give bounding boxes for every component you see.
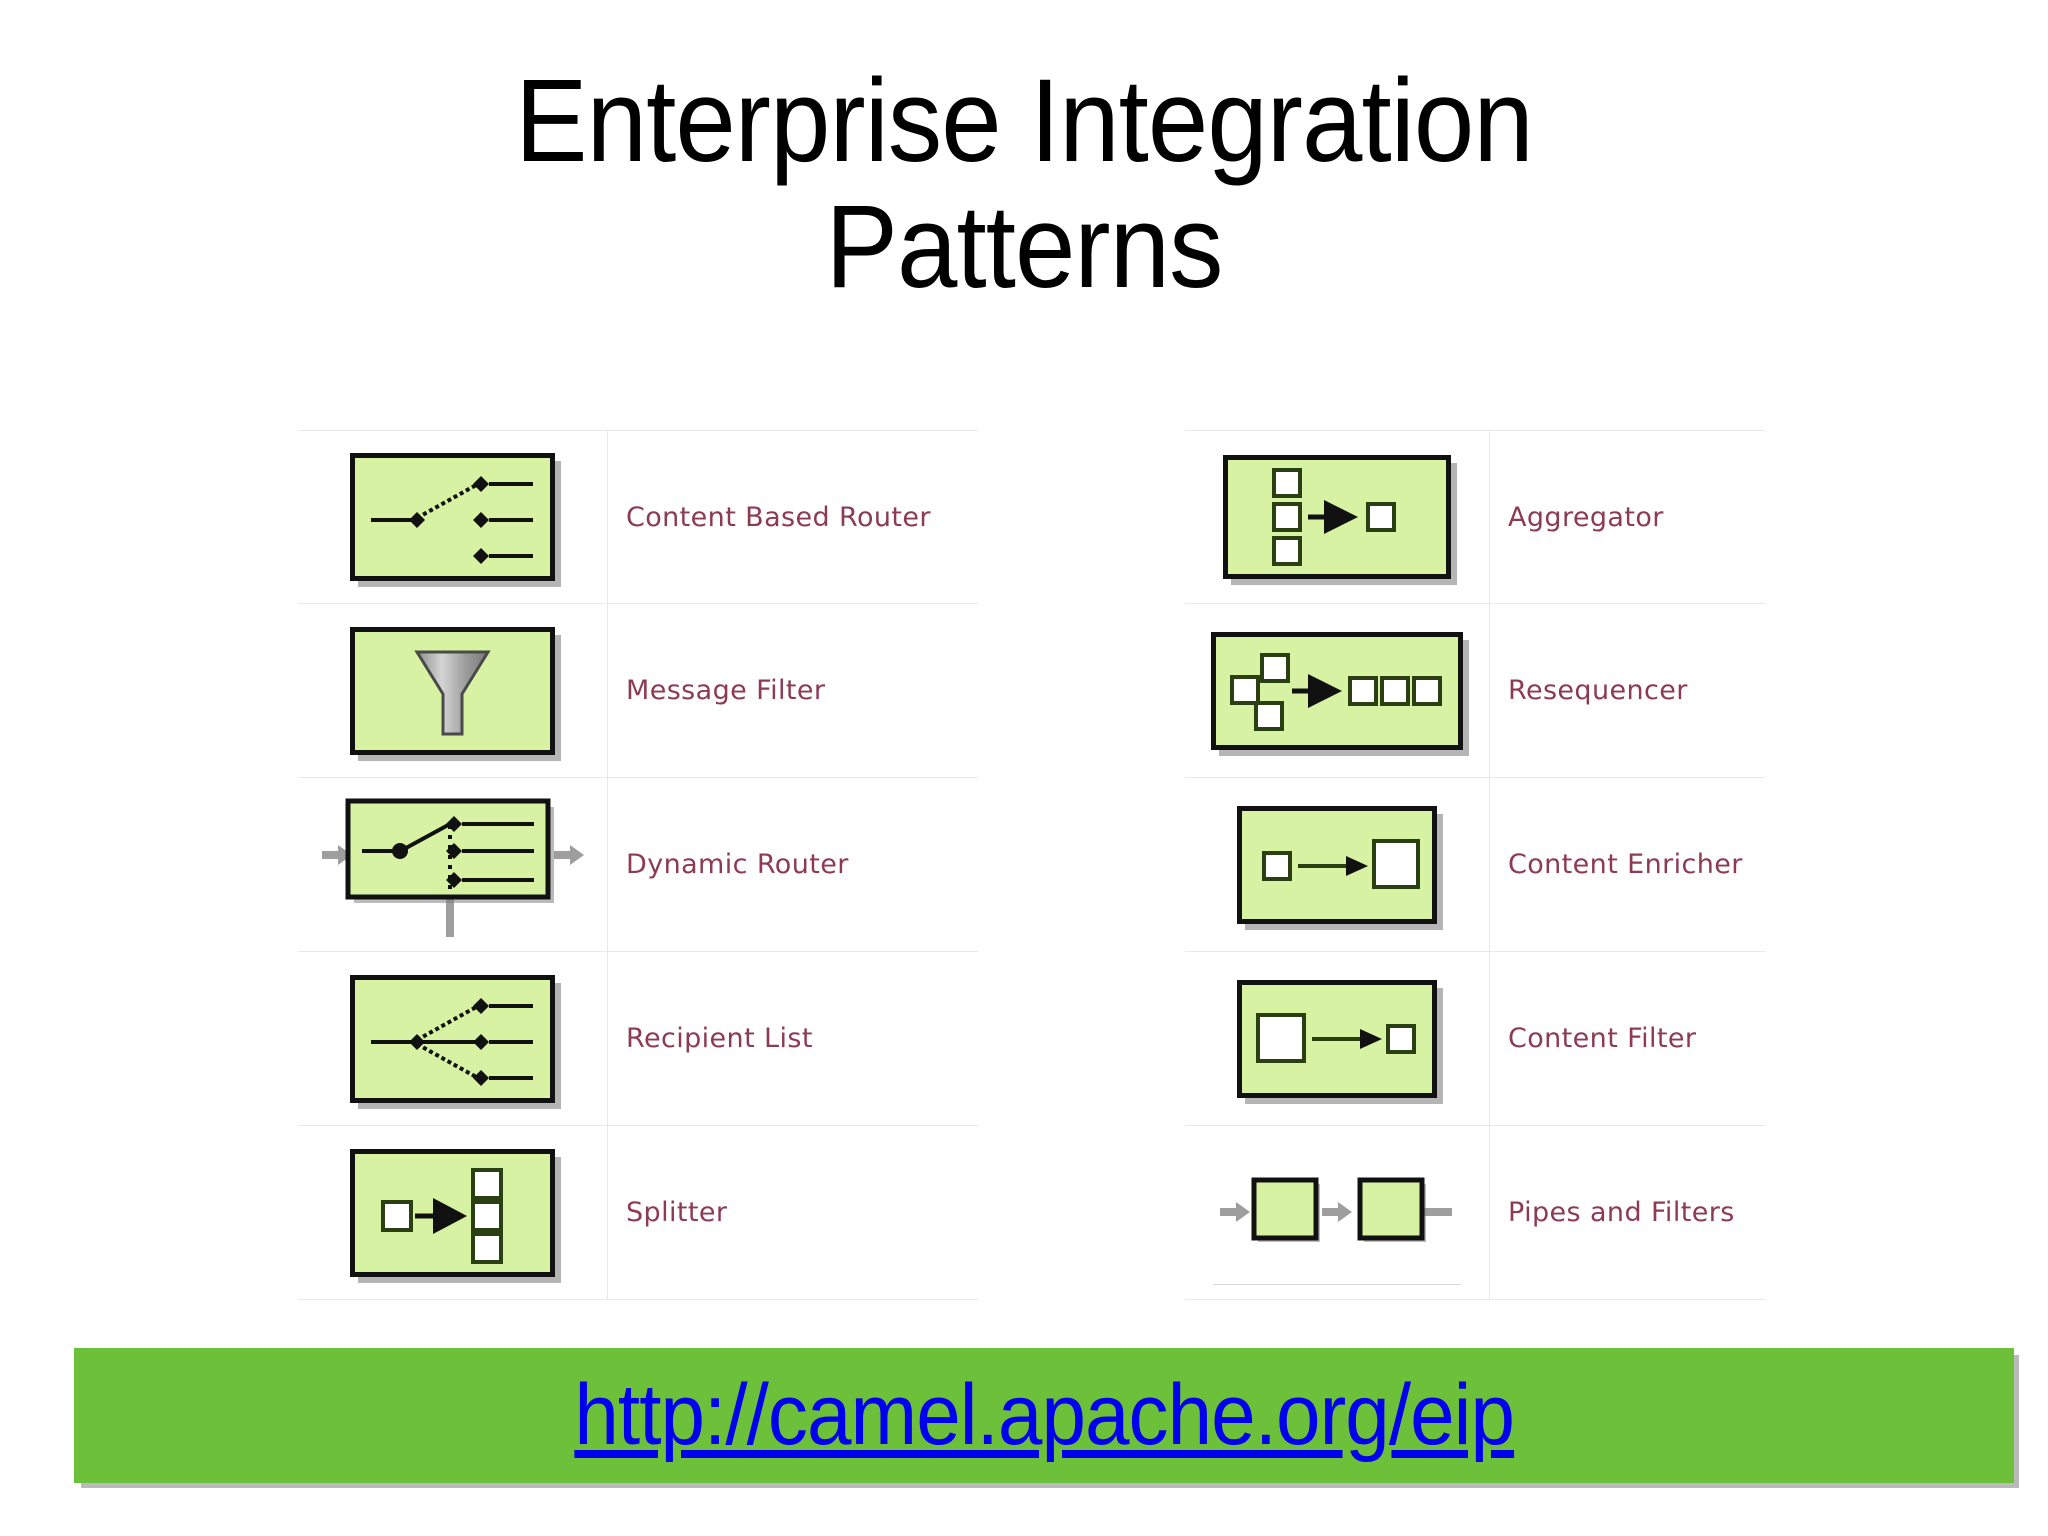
content-filter-icon: [1237, 980, 1437, 1098]
pattern-row-message-filter[interactable]: Message Filter: [298, 604, 978, 778]
pattern-label: Splitter: [626, 1197, 727, 1228]
pattern-row-content-enricher[interactable]: Content Enricher: [1185, 778, 1765, 952]
pattern-row-dynamic-router[interactable]: Dynamic Router: [298, 778, 978, 952]
dynamic-router-icon: [318, 785, 588, 945]
label-cell: Splitter: [608, 1126, 978, 1299]
page-title: Enterprise Integration Patterns: [82, 58, 1966, 311]
icon-cell: [298, 952, 608, 1125]
pattern-row-content-filter[interactable]: Content Filter: [1185, 952, 1765, 1126]
pattern-row-recipient-list[interactable]: Recipient List: [298, 952, 978, 1126]
label-cell: Dynamic Router: [608, 778, 978, 951]
icon-cell: [1185, 431, 1490, 603]
icon-cell: [1185, 1126, 1490, 1299]
pattern-label: Content Based Router: [626, 502, 931, 533]
pattern-row-resequencer[interactable]: Resequencer: [1185, 604, 1765, 778]
pattern-column-right: Aggregator: [1185, 430, 1765, 1300]
content-enricher-icon: [1237, 806, 1437, 924]
pattern-label: Resequencer: [1508, 675, 1688, 706]
recipient-list-icon: [350, 975, 555, 1103]
eip-documentation-link[interactable]: http://camel.apache.org/eip: [574, 1366, 1514, 1465]
icon-cell: [1185, 952, 1490, 1125]
resequencer-icon: [1211, 632, 1463, 750]
label-cell: Resequencer: [1490, 604, 1765, 777]
label-cell: Recipient List: [608, 952, 978, 1125]
pipes-and-filters-icon: [1212, 1158, 1462, 1268]
url-banner: http://camel.apache.org/eip: [74, 1348, 2014, 1483]
icon-cell: [298, 1126, 608, 1299]
pattern-label: Dynamic Router: [626, 849, 849, 880]
row-underline: [1213, 1284, 1461, 1285]
icon-cell: [298, 431, 608, 603]
label-cell: Content Based Router: [608, 431, 978, 603]
pattern-label: Recipient List: [626, 1023, 813, 1054]
eip-pattern-tables: Content Based Router: [0, 430, 2048, 1330]
label-cell: Pipes and Filters: [1490, 1126, 1765, 1299]
pattern-row-content-based-router[interactable]: Content Based Router: [298, 430, 978, 604]
pattern-label: Content Filter: [1508, 1023, 1696, 1054]
pattern-row-pipes-and-filters[interactable]: Pipes and Filters: [1185, 1126, 1765, 1300]
pattern-label: Content Enricher: [1508, 849, 1743, 880]
splitter-icon: [350, 1149, 555, 1277]
aggregator-icon: [1223, 455, 1451, 579]
label-cell: Content Filter: [1490, 952, 1765, 1125]
label-cell: Message Filter: [608, 604, 978, 777]
icon-cell: [298, 778, 608, 951]
pattern-label: Message Filter: [626, 675, 825, 706]
label-cell: Content Enricher: [1490, 778, 1765, 951]
message-filter-icon: [350, 627, 555, 755]
content-based-router-icon: [350, 453, 555, 581]
pattern-label: Pipes and Filters: [1508, 1197, 1735, 1228]
pattern-row-splitter[interactable]: Splitter: [298, 1126, 978, 1300]
pattern-column-left: Content Based Router: [298, 430, 978, 1300]
pattern-row-aggregator[interactable]: Aggregator: [1185, 430, 1765, 604]
icon-cell: [1185, 778, 1490, 951]
icon-cell: [1185, 604, 1490, 777]
icon-cell: [298, 604, 608, 777]
label-cell: Aggregator: [1490, 431, 1765, 603]
pattern-label: Aggregator: [1508, 502, 1664, 533]
